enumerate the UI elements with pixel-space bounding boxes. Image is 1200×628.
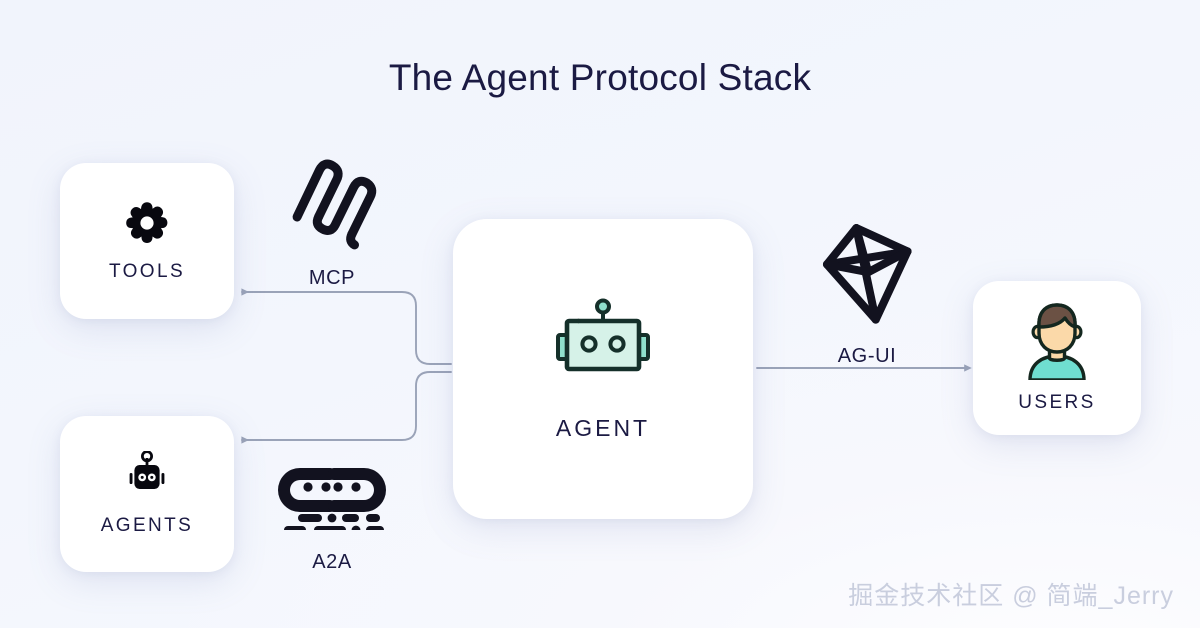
node-label-users: USERS [1018, 392, 1095, 414]
connector-agent-tools [242, 292, 451, 364]
user-avatar-icon [1020, 302, 1094, 380]
node-label-tools: TOOLS [109, 261, 185, 283]
protocol-label-agui: AG-UI [838, 345, 897, 368]
robot-solid-icon [121, 451, 173, 499]
protocol-label-a2a: A2A [312, 551, 352, 574]
diagram-canvas: The Agent Protocol Stack TOO [0, 0, 1200, 628]
node-label-agent: AGENT [556, 415, 650, 442]
watermark: 掘金技术社区 @ 简端_Jerry [848, 576, 1174, 612]
page-title: The Agent Protocol Stack [0, 56, 1200, 100]
protocol-agui[interactable]: AG-UI [805, 218, 929, 368]
mcp-logo-icon [282, 146, 382, 259]
connector-agent-agents [242, 372, 451, 440]
ag-ui-logo-icon [812, 218, 922, 335]
robot-head-icon [550, 297, 656, 381]
node-label-agents: AGENTS [101, 515, 194, 537]
protocol-label-mcp: MCP [309, 267, 355, 290]
node-card-users[interactable]: USERS [973, 281, 1141, 435]
node-card-tools[interactable]: TOOLS [60, 163, 234, 319]
gear-icon [123, 199, 171, 247]
node-card-agent[interactable]: AGENT [453, 219, 753, 519]
protocol-a2a[interactable]: A2A [268, 462, 396, 574]
node-card-agents[interactable]: AGENTS [60, 416, 234, 572]
protocol-mcp[interactable]: MCP [268, 146, 396, 290]
a2a-logo-icon [278, 462, 386, 535]
